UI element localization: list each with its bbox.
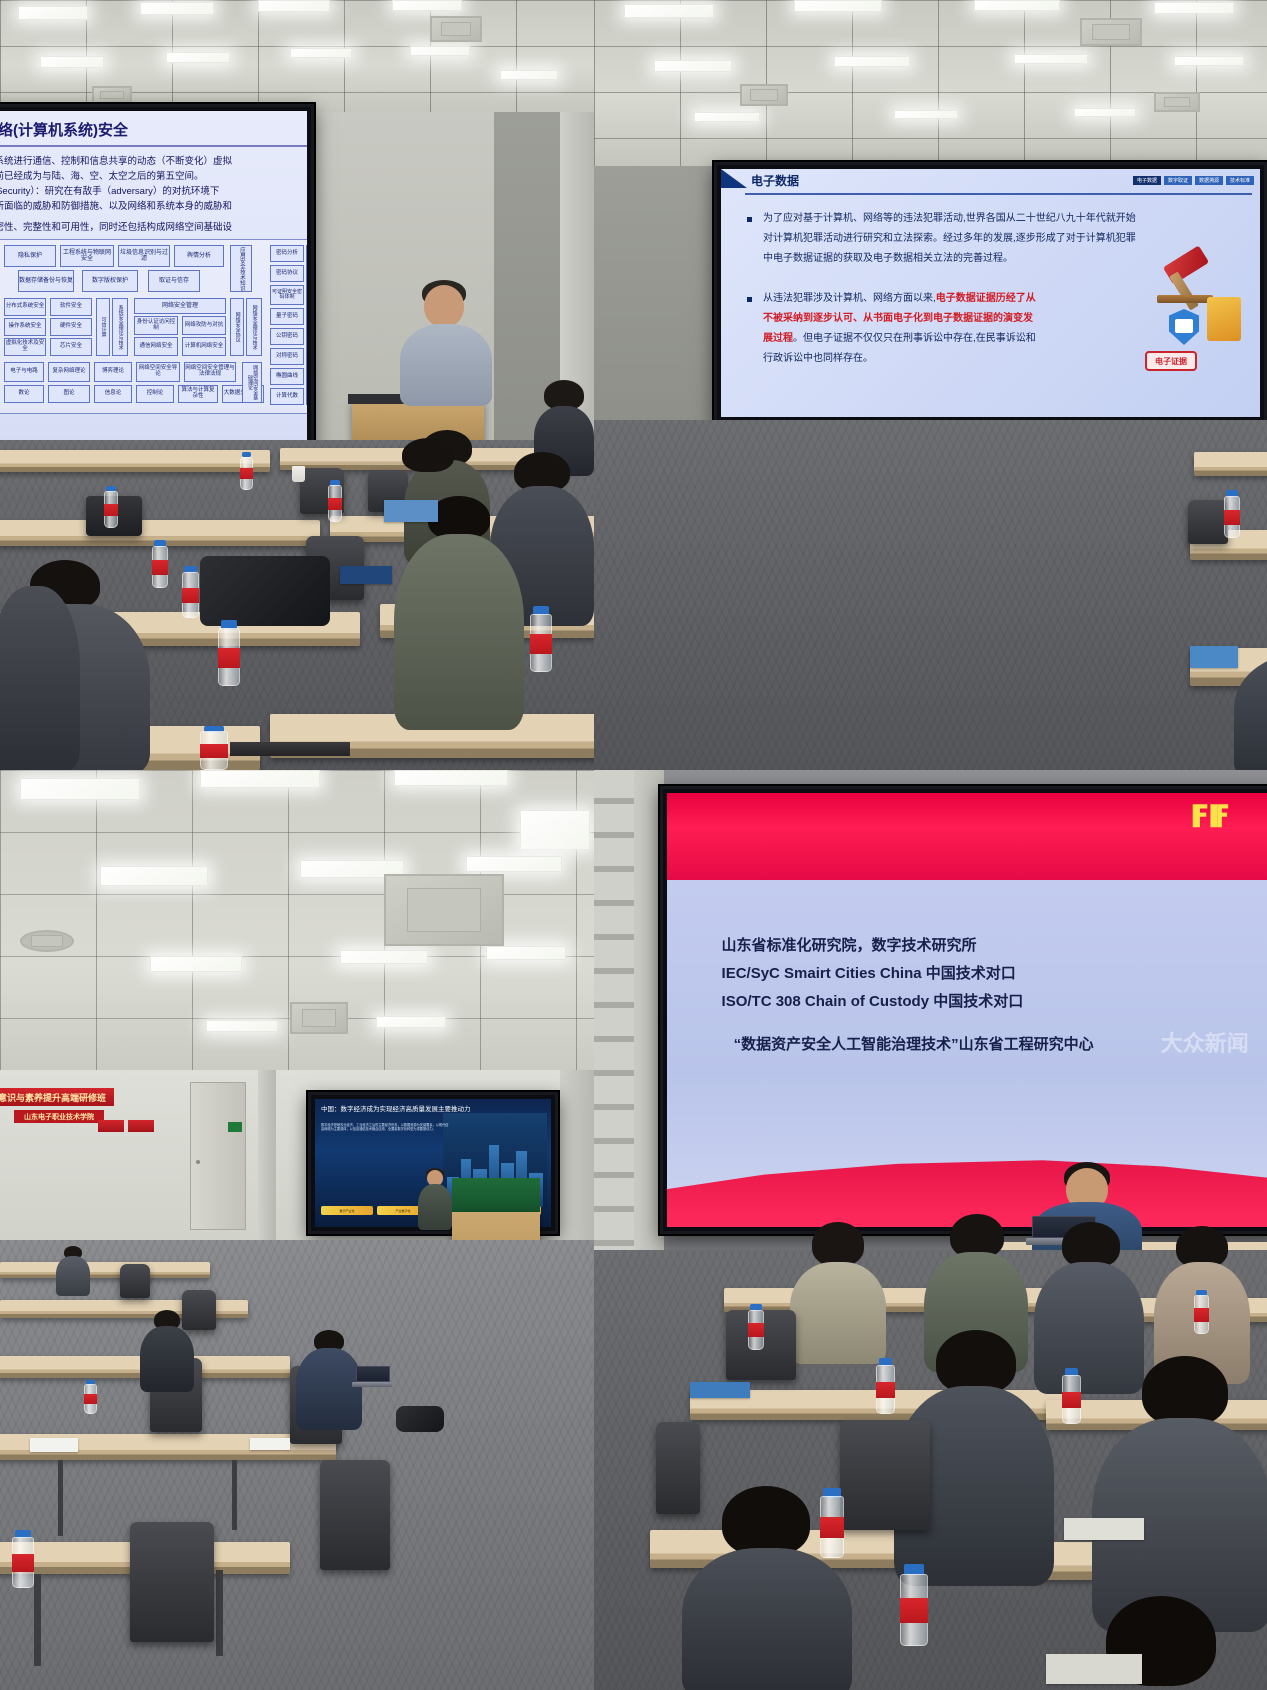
fw-cyberspace-intro: 网络空间安全导论 <box>136 362 180 382</box>
water-bottle <box>218 620 240 686</box>
panel-bottom-right: 山东省标准化研究院，数字技术研究所 IEC/SyC Smairt Cities … <box>594 770 1267 1690</box>
slide4-line-2: IEC/SyC Smairt Cities China 中国技术对口 <box>722 963 1016 985</box>
fw-net-sec-mgmt: 网络安全管理 <box>134 298 226 314</box>
handout <box>1064 1518 1144 1540</box>
fw-privacy: 隐私保护 <box>4 245 56 267</box>
slide1-line-5: 保密性、完整性和可用性，同时还包括构成网络空间基础设 <box>0 219 232 233</box>
water-bottle <box>84 1380 97 1414</box>
fw-net-sec-protocol: 网络安全协议 <box>230 298 244 356</box>
fw-iot: 工程系统与物联网安全 <box>60 245 114 267</box>
tab-digital-forensics[interactable]: 数字取证 <box>1164 176 1192 185</box>
slide4-highlight: “数据资产安全人工智能治理技术”山东省工程研究中心 <box>734 1033 1094 1054</box>
panel-top-left: 网络(计算机系统)安全 算系统进行通信、控制和信息共享的动态（不断变化）虚拟 目… <box>0 0 594 770</box>
fw-authn: 身份认证访问控制 <box>134 316 178 335</box>
chair <box>656 1422 700 1514</box>
slide4-line-3: ISO/TC 308 Chain of Custody 中国技术对口 <box>722 991 1024 1013</box>
watermark: 大众新闻 <box>1161 1026 1249 1058</box>
slide-electronic-data: 电子数据 电子数据 数字取证 数据溯源 技术标准 为了应对基于计算机、网络等 <box>721 169 1260 417</box>
speaker-standing <box>398 280 494 405</box>
water-bottle <box>328 480 342 522</box>
slide4-body: 山东省标准化研究院，数字技术研究所 IEC/SyC Smairt Cities … <box>667 880 1267 1227</box>
tab-tech-standards[interactable]: 技术标准 <box>1226 176 1254 185</box>
slide2-bullet-2 <box>747 293 761 303</box>
banner-sub: 山东电子职业技术学院 <box>14 1110 104 1123</box>
fw-crypto-label: 密码学基础知识 <box>306 245 307 405</box>
slide-shandong-standardization: 山东省标准化研究院，数字技术研究所 IEC/SyC Smairt Cities … <box>667 793 1267 1227</box>
handout <box>1190 646 1238 668</box>
fw-computer-net-sec: 计算机网络安全 <box>182 337 226 356</box>
fw-graph-theory: 图论 <box>48 385 90 403</box>
water-bottle <box>1224 490 1240 538</box>
handout <box>340 566 392 584</box>
banner-side-2 <box>128 1120 154 1132</box>
exit-sign <box>228 1122 242 1132</box>
bullet2-red-1: 电子数据证据历经了从 <box>936 293 1036 304</box>
framework-diagram: 隐私保护 工程系统与物联网安全 垃圾信息识别与过滤 舆情分析 数据存储备份与恢复… <box>0 239 307 414</box>
fw-software-sec: 软件安全 <box>50 298 92 316</box>
fw-crypto-analysis: 密码分析 <box>270 245 304 262</box>
evidence-stamp: 电子证据 <box>1145 351 1197 371</box>
fw-cyber-law: 网络空间安全管理与法律法规 <box>184 362 236 382</box>
panel-top-right: 电子数据 电子数据 数字取证 数据溯源 技术标准 为了应对基于计算机、网络等 <box>594 0 1267 770</box>
desk-row-1 <box>0 450 270 472</box>
slide1-line-1: 算系统进行通信、控制和信息共享的动态（不断变化）虚拟 <box>0 153 232 167</box>
slide1-line-2: 目前已经成为与陆、海、空、太空之后的第五空间。 <box>0 168 204 182</box>
water-bottle <box>876 1358 895 1414</box>
fw-chip-sec: 芯片安全 <box>50 338 92 356</box>
notebook <box>384 500 438 522</box>
water-bottle <box>182 566 199 618</box>
tab-data-provenance[interactable]: 数据溯源 <box>1195 176 1223 185</box>
chip-digital-industrialization: 数字产业化 <box>321 1206 373 1215</box>
water-bottle <box>1194 1290 1209 1334</box>
fw-info-theory: 信息论 <box>94 385 132 403</box>
fw-comp-algebra: 计算代数 <box>270 388 304 405</box>
fw-sys-sec-theory: 系统安全理论与技术 <box>112 298 128 356</box>
slide2-bullet2-line3: 展过程。但电子证据不仅仅只在刑事诉讼中存在,在民事诉讼和 <box>763 331 1036 346</box>
fw-game-theory: 博弈理论 <box>94 362 132 382</box>
attendee <box>1092 1356 1267 1626</box>
slide3-headline: 中国：数字经济成为实现经济高质量发展主要推动力 <box>321 1103 471 1113</box>
fw-virt-sec: 虚拟化技术及安全 <box>4 338 46 356</box>
handout <box>690 1382 750 1398</box>
water-bottle <box>152 540 168 588</box>
attendee <box>1234 600 1267 770</box>
fw-distributed: 分布式系统安全 <box>4 298 46 316</box>
desk-row-a <box>1194 452 1267 476</box>
slide2-bullet2-line2: 不被采纳到逐步认可、从书面电子化到电子数据证据的演变发 <box>763 311 1033 326</box>
backpack <box>200 556 330 626</box>
slide3-paragraph: 数字经济是继农业经济、工业经济之后的主要经济形态，以数据资源为关键要素，以现代信… <box>321 1123 449 1132</box>
water-bottle <box>12 1530 34 1588</box>
party-emblem-icon <box>1170 797 1249 849</box>
projection-screen-network-security: 网络(计算机系统)安全 算系统进行通信、控制和信息共享的动态（不断变化）虚拟 目… <box>0 104 314 454</box>
fw-provable-sec: 可证明安全密码体制 <box>270 285 304 305</box>
panel-bottom-left: 意识与素养提升高端研修班 山东电子职业技术学院 中国：数字经济成为实现经济高质量… <box>0 770 594 1690</box>
shield-lock-glyph <box>1175 319 1193 333</box>
slide1-title: 网络(计算机系统)安全 <box>0 119 128 140</box>
water-bottle <box>900 1564 928 1646</box>
water-bottle <box>1062 1368 1081 1424</box>
water-bottle <box>820 1488 844 1558</box>
fw-quantum-crypto: 量子密码 <box>270 308 304 325</box>
slide2-bullet2-line4: 行政诉讼中也同样存在。 <box>763 351 873 366</box>
handout <box>30 1438 78 1452</box>
handout <box>1046 1654 1142 1684</box>
water-bottle <box>530 606 552 672</box>
bag <box>396 1406 444 1432</box>
photo-collage: 网络(计算机系统)安全 算系统进行通信、控制和信息共享的动态（不断变化）虚拟 目… <box>0 0 1267 1690</box>
water-bottle <box>104 486 118 528</box>
chair <box>1188 500 1228 544</box>
water-bottle <box>748 1304 764 1350</box>
chair <box>130 1522 214 1642</box>
projection-screen-electronic-data: 电子数据 电子数据 数字取证 数据溯源 技术标准 为了应对基于计算机、网络等 <box>714 162 1267 424</box>
fw-crypto-protocol: 密码协议 <box>270 265 304 282</box>
fw-complex-net: 复杂网络理论 <box>48 362 90 382</box>
fw-drm: 数字版权保护 <box>82 270 138 292</box>
laptop <box>352 1366 392 1388</box>
attendee <box>56 1246 90 1292</box>
chair <box>120 1264 150 1298</box>
fw-forensics: 取证与信存 <box>148 270 200 292</box>
podium-front-panel <box>452 1178 540 1214</box>
fw-public-key: 公钥密码 <box>270 328 304 345</box>
fw-comm-net-sec: 通信网络安全 <box>134 337 178 356</box>
slide2-bullet2-line1: 从违法犯罪涉及计算机、网络方面以来,电子数据证据历经了从 <box>763 291 1036 306</box>
fw-opinion: 舆情分析 <box>174 245 224 267</box>
water-bottle <box>200 726 228 770</box>
slide2-title: 电子数据 <box>751 172 799 189</box>
handout <box>250 1438 290 1450</box>
banner-side-1 <box>98 1120 124 1132</box>
bullet2-plain-2: 。但电子证据不仅仅只在刑事诉讼中存在,在民事诉讼和 <box>793 333 1036 344</box>
desk-row-1 <box>0 1262 210 1278</box>
fw-cyber-basic-theory: 网络空间安全基础理论 <box>242 362 262 403</box>
slide4-line-1: 山东省标准化研究院，数字技术研究所 <box>722 935 977 957</box>
slide2-tab-bar[interactable]: 电子数据 数字取证 数据溯源 技术标准 <box>1133 176 1254 185</box>
fw-hw-sec: 硬件安全 <box>50 318 92 336</box>
folder-icon <box>1207 297 1241 341</box>
slide2-bullet-1 <box>747 213 761 223</box>
fw-backup: 数据存储备份与恢复 <box>18 270 74 292</box>
fw-control-theory: 控制论 <box>136 385 174 403</box>
fw-symmetric: 对称密码 <box>270 348 304 365</box>
desk-row-a <box>724 1288 1084 1312</box>
projection-screen-party-slide: 山东省标准化研究院，数字技术研究所 IEC/SyC Smairt Cities … <box>660 786 1267 1234</box>
slide2-bullet1-line3: 中电子数据证据的获取及电子数据相关立法的完善过程。 <box>763 251 1013 266</box>
fw-trusted-computing: 可信计算 <box>96 298 110 356</box>
attendee <box>394 496 524 726</box>
door[interactable] <box>190 1082 246 1230</box>
attendee-headset <box>396 438 466 498</box>
fw-os-sec: 操作系统安全 <box>4 318 46 336</box>
fw-electronics: 电子与电路 <box>4 362 44 382</box>
fw-spam: 垃圾信息识别与过滤 <box>118 245 170 267</box>
fw-algorithms: 算法与计算复杂性 <box>178 385 218 403</box>
attendee <box>140 1310 194 1388</box>
fw-net-attack: 网络攻防与对抗 <box>182 316 226 335</box>
fw-ecc: 椭圆曲线 <box>270 368 304 385</box>
bullet2-red-2: 展过程 <box>763 333 793 344</box>
slide-network-security: 网络(计算机系统)安全 算系统进行通信、控制和信息共享的动态（不断变化）虚拟 目… <box>0 111 307 447</box>
fw-app-label: 应用安全技术知识 <box>230 245 252 292</box>
water-bottle <box>240 452 253 490</box>
chair <box>320 1460 390 1570</box>
fw-number-theory: 数论 <box>4 385 44 403</box>
tab-electronic-data[interactable]: 电子数据 <box>1133 176 1161 185</box>
attendee <box>0 586 80 770</box>
slide2-bullet1-line2: 对计算机犯罪活动进行研究和立法探索。经过多年的发展,逐步形成了对于计算机犯罪 <box>763 231 1136 246</box>
slide2-corner-triangle <box>721 169 747 188</box>
chair <box>840 1420 930 1530</box>
attendee <box>790 1222 886 1352</box>
speaker-at-podium <box>418 1168 452 1228</box>
banner-main: 意识与素养提升高端研修班 <box>0 1088 114 1106</box>
slide1-line-3: er Security）：研究在有敌手（adversary）的对抗环境下 <box>0 183 219 197</box>
paper-cup <box>292 466 305 482</box>
fw-net-sec-theory: 网络安全理论与技术 <box>246 298 262 356</box>
bullet2-plain-1: 从违法犯罪涉及计算机、网络方面以来, <box>763 293 936 304</box>
slide1-line-4: 中所面临的威胁和防御措施、以及网络和系统本身的威胁和 <box>0 198 232 212</box>
slide2-bullet1-line1: 为了应对基于计算机、网络等的违法犯罪活动,世界各国从二十世纪八九十年代就开始 <box>763 211 1136 226</box>
